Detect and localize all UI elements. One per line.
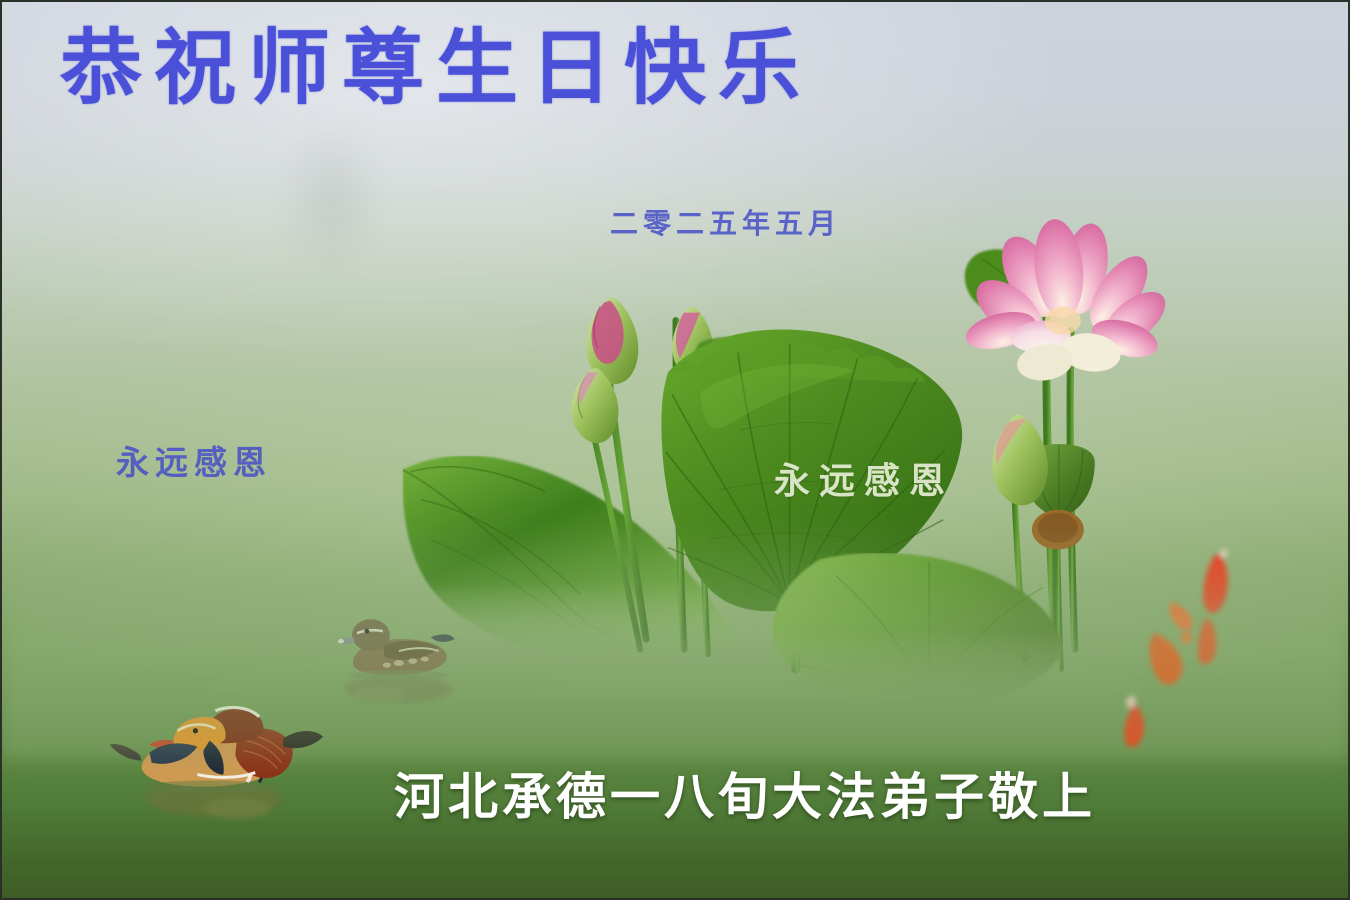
gratitude-text-left: 永远感恩 <box>116 446 272 479</box>
green-bud-right <box>992 415 1047 506</box>
greeting-card: 恭祝师尊生日快乐 二零二五年五月 永远感恩 永远感恩 河北承德一八旬大法弟子敬上 <box>0 0 1350 900</box>
lotus-bloom-right <box>962 217 1174 384</box>
mandarin-duck-female <box>338 619 455 703</box>
koi-fish-2 <box>1170 601 1193 630</box>
gratitude-watermark: 永远感恩 <box>774 464 954 500</box>
date-line: 二零二五年五月 <box>610 210 841 238</box>
koi-fish-1 <box>1203 549 1228 613</box>
page-title: 恭祝师尊生日快乐 <box>60 28 812 110</box>
signature-text: 河北承德一八旬大法弟子敬上 <box>394 772 1096 822</box>
